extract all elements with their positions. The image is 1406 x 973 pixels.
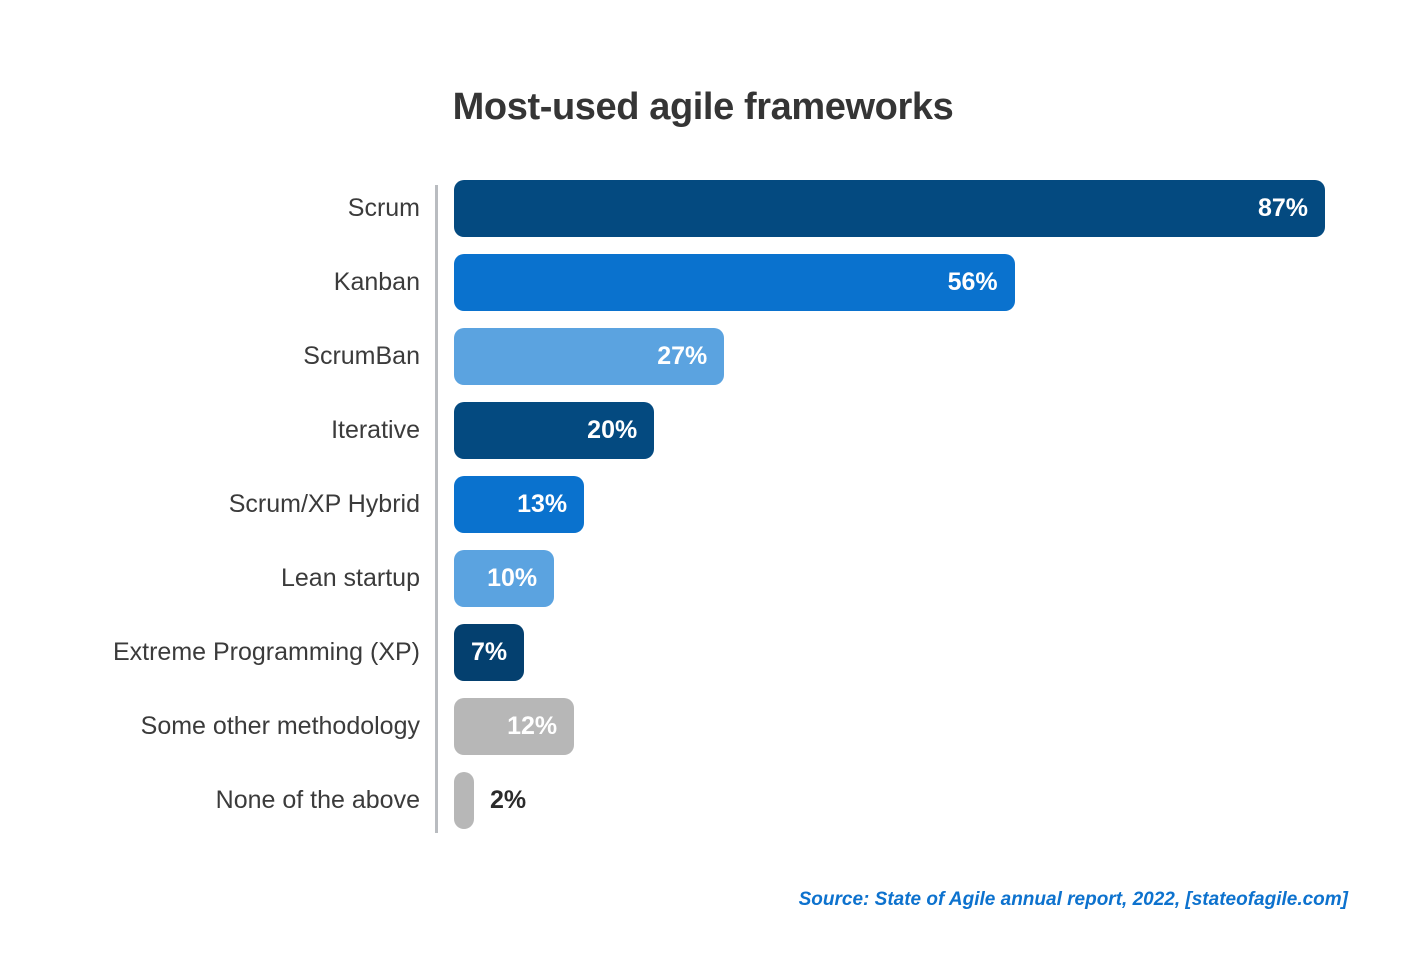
- bar-row: Some other methodology12%: [0, 698, 1406, 772]
- bar-value-label: 56%: [948, 268, 1015, 297]
- bar-value-label: 87%: [1258, 194, 1325, 223]
- bar[interactable]: 13%: [454, 476, 584, 533]
- bar-value-label: 2%: [490, 772, 526, 829]
- category-label: Some other methodology: [141, 698, 420, 755]
- bar-value-label: 10%: [487, 564, 554, 593]
- bar[interactable]: 12%: [454, 698, 574, 755]
- bar-row: Lean startup10%: [0, 550, 1406, 624]
- bar-row: Scrum87%: [0, 180, 1406, 254]
- bar-row: Kanban56%: [0, 254, 1406, 328]
- bar-row: Extreme Programming (XP)7%: [0, 624, 1406, 698]
- source-attribution: Source: State of Agile annual report, 20…: [799, 889, 1348, 911]
- category-label: ScrumBan: [303, 328, 420, 385]
- bar[interactable]: 20%: [454, 402, 654, 459]
- category-label: None of the above: [216, 772, 420, 829]
- bar-row: Scrum/XP Hybrid13%: [0, 476, 1406, 550]
- plot-area: Scrum87%Kanban56%ScrumBan27%Iterative20%…: [0, 180, 1406, 840]
- bar-value-label: 20%: [587, 416, 654, 445]
- bar-value-label: 7%: [471, 638, 524, 667]
- bar-rows: Scrum87%Kanban56%ScrumBan27%Iterative20%…: [0, 180, 1406, 846]
- bar-row: None of the above2%: [0, 772, 1406, 846]
- bar-value-label: 13%: [517, 490, 584, 519]
- category-label: Kanban: [334, 254, 420, 311]
- bar-value-label: 12%: [507, 712, 574, 741]
- bar-row: Iterative20%: [0, 402, 1406, 476]
- category-label: Extreme Programming (XP): [113, 624, 420, 681]
- chart-figure: Most-used agile frameworks Scrum87%Kanba…: [0, 0, 1406, 973]
- bar[interactable]: [454, 772, 474, 829]
- category-label: Scrum: [348, 180, 420, 237]
- bar[interactable]: 27%: [454, 328, 724, 385]
- bar-value-label: 27%: [657, 342, 724, 371]
- category-label: Scrum/XP Hybrid: [229, 476, 420, 533]
- bar[interactable]: 7%: [454, 624, 524, 681]
- category-label: Iterative: [331, 402, 420, 459]
- category-label: Lean startup: [281, 550, 420, 607]
- bar[interactable]: 10%: [454, 550, 554, 607]
- bar[interactable]: 56%: [454, 254, 1015, 311]
- bar-row: ScrumBan27%: [0, 328, 1406, 402]
- bar[interactable]: 87%: [454, 180, 1325, 237]
- chart-title: Most-used agile frameworks: [0, 86, 1406, 129]
